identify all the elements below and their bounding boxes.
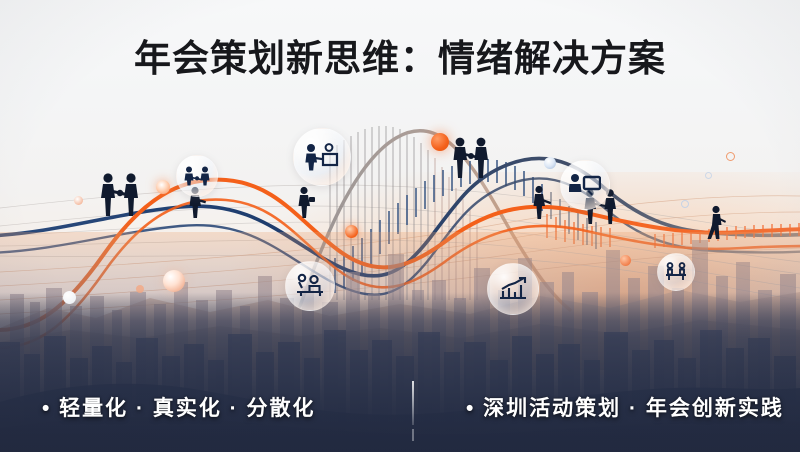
caption-right: • 深圳活动策划 · 年会创新实践: [466, 392, 784, 422]
accent-dot-small-orange: [74, 196, 83, 205]
two-people-table-icon: [665, 262, 687, 282]
slide-canvas: 年会策划新思维：情绪解决方案 • 轻量化 · 真实化 · 分散化 • 深圳活动策…: [0, 0, 800, 452]
accent-dot-orange-small2: [620, 255, 631, 266]
person-reading-silhouette: [295, 186, 319, 218]
person-standing-silhouette: [530, 185, 554, 219]
handshake-pair-right-silhouette: [449, 136, 493, 178]
bubble-growth-chart: [487, 263, 539, 315]
accent-dot-tiny: [136, 285, 144, 293]
accent-ring-orange: [726, 152, 735, 161]
accent-dot-soft-orange: [156, 180, 170, 194]
accent-dot-white: [63, 291, 76, 304]
accent-ring-blue2: [705, 172, 712, 179]
bubble-two-people-table: [657, 253, 695, 291]
bubble-meeting: [285, 261, 335, 311]
accent-dot-orange-large: [431, 133, 449, 151]
accent-bubble-pale: [163, 270, 185, 292]
caption-divider: [412, 381, 414, 425]
handshake-icon: [184, 166, 210, 186]
city-blue-wash: [0, 292, 800, 452]
handshake-pair-left-silhouette: [96, 172, 144, 216]
bubble-handshake: [176, 155, 218, 197]
meeting-table-icon: [295, 273, 325, 299]
accent-ring-blue: [681, 200, 689, 208]
caption-left: • 轻量化 · 真实化 · 分散化: [42, 392, 316, 422]
bubble-remote-work: [560, 160, 610, 210]
page-title: 年会策划新思维：情绪解决方案: [0, 28, 800, 82]
growth-chart-icon: [498, 276, 528, 302]
walking-person-silhouette: [706, 205, 728, 239]
bubble-presentation: [293, 128, 351, 186]
person-monitor-icon: [569, 173, 601, 197]
presentation-board-icon: [305, 143, 339, 171]
accent-dot-orange-mid: [345, 225, 358, 238]
accent-dot-blue: [544, 157, 556, 169]
